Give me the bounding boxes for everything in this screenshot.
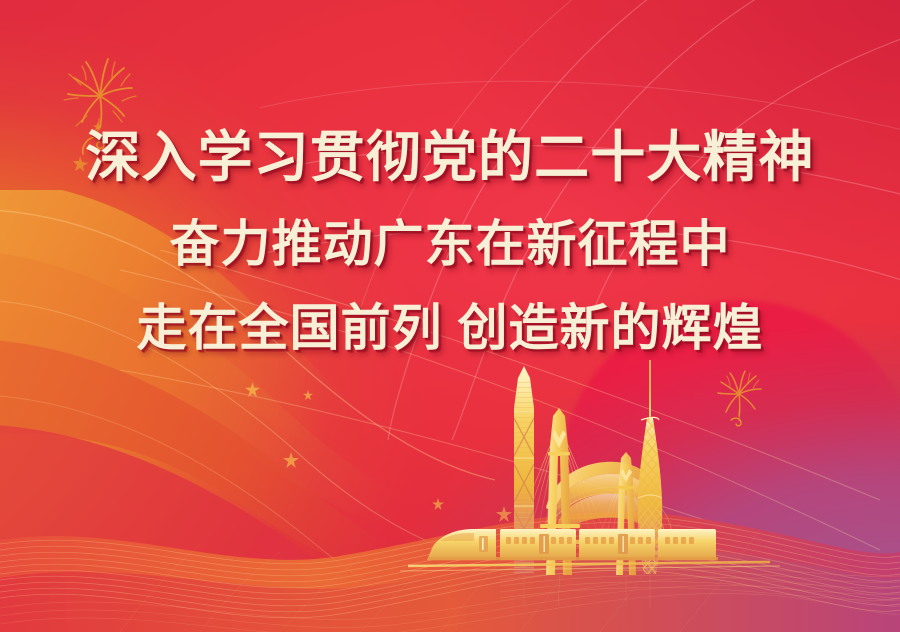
star-icon	[432, 498, 444, 510]
headline-line-3: 走在全国前列 创造新的辉煌	[0, 296, 900, 360]
city-skyline-illustration	[400, 360, 900, 610]
high-speed-train	[400, 529, 780, 571]
star-icon	[496, 506, 512, 522]
skyline-reflection	[500, 564, 900, 608]
poster-canvas: 深入学习贯彻党的二十大精神 奋力推动广东在新征程中 走在全国前列 创造新的辉煌	[0, 0, 900, 632]
headline-block: 深入学习贯彻党的二十大精神 奋力推动广东在新征程中 走在全国前列 创造新的辉煌	[0, 122, 900, 360]
star-icon	[303, 390, 313, 400]
headline-line-1: 深入学习贯彻党的二十大精神	[0, 122, 900, 192]
headline-line-2: 奋力推动广东在新征程中	[0, 212, 900, 276]
firework-burst-small-icon	[712, 368, 768, 430]
star-icon	[245, 382, 260, 397]
star-icon	[283, 452, 299, 468]
